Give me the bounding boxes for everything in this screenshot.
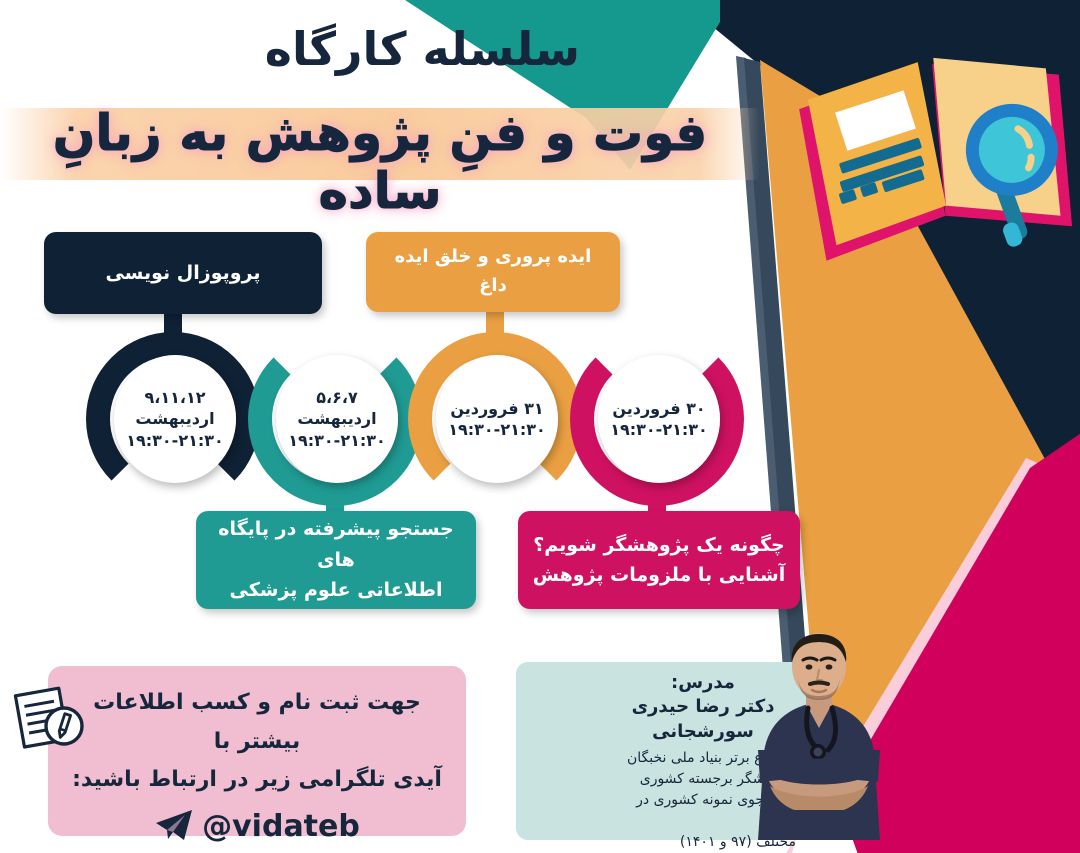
date-circle-proposal-time: ۱۹:۳۰-۲۱:۳۰ [126,430,224,451]
date-circle-howto-date: ۳۰ فروردین [612,398,705,419]
topic-box-idea[interactable]: ایده پروری و خلق ایده داغ [366,232,620,312]
date-circle-search-date: ۵،۶،۷ [316,387,357,408]
telegram-handle-text: @vidateb [202,809,360,844]
contact-box: جهت ثبت نام و کسب اطلاعات بیشتر با آیدی … [48,666,466,836]
telegram-handle[interactable]: @vidateb [68,808,446,846]
topic-box-idea-label: ایده پروری و خلق ایده داغ [380,243,606,301]
date-circle-howto: ۳۰ فروردین ۱۹:۳۰-۲۱:۳۰ [598,355,720,483]
date-circle-search: ۵،۶،۷ اردیبهشت ۱۹:۳۰-۲۱:۳۰ [276,355,398,483]
topic-box-search[interactable]: جستجو پیشرفته در پایگاه های اطلاعاتی علو… [196,511,476,609]
date-circle-search-time: ۱۹:۳۰-۲۱:۳۰ [288,430,386,451]
topic-box-howto[interactable]: چگونه یک پژوهشگر شویم؟ آشنایی با ملزومات… [518,511,800,609]
topic-box-howto-label-line2: آشنایی با ملزومات پژوهش [533,560,786,590]
telegram-icon [154,808,194,846]
date-circle-proposal-date: ۹،۱۱،۱۲ [145,387,206,408]
date-circle-search-month: اردیبهشت [297,408,376,429]
topic-box-search-label-line1: جستجو پیشرفته در پایگاه های [210,514,462,575]
date-circle-proposal-month: اردیبهشت [135,408,214,429]
instructor-portrait [748,624,890,840]
topic-box-proposal-label: پروپوزال نویسی [105,258,260,288]
date-circle-idea: ۳۱ فروردین ۱۹:۳۰-۲۱:۳۰ [436,355,558,483]
open-book-magnifier-icon [785,30,1080,297]
date-circle-idea-date: ۳۱ فروردین [450,398,543,419]
date-circle-howto-time: ۱۹:۳۰-۲۱:۳۰ [610,419,708,440]
document-pencil-icon [12,680,90,758]
date-circle-proposal: ۹،۱۱،۱۲ اردیبهشت ۱۹:۳۰-۲۱:۳۰ [114,355,236,483]
topic-box-search-label-line2: اطلاعاتی علوم پزشکی [210,575,462,605]
poster-title-line2: فوت و فنِ پژوهش به زبانِ ساده [0,104,760,220]
topic-box-howto-label: چگونه یک پژوهشگر شویم؟ آشنایی با ملزومات… [533,530,786,591]
topic-box-search-label: جستجو پیشرفته در پایگاه های اطلاعاتی علو… [210,514,462,605]
date-circle-idea-time: ۱۹:۳۰-۲۱:۳۰ [448,419,546,440]
poster-canvas: سلسله کارگاه فوت و فنِ پژوهش به زبانِ سا… [0,0,1080,853]
topic-box-proposal[interactable]: پروپوزال نویسی [44,232,322,314]
title-line1-text: سلسله کارگاه [0,22,820,76]
contact-line2: آیدی تلگرامی زیر در ارتباط باشید: [68,761,446,800]
contact-line1: جهت ثبت نام و کسب اطلاعات بیشتر با [68,684,446,761]
topic-box-howto-label-line1: چگونه یک پژوهشگر شویم؟ [533,530,786,560]
poster-title-line1: سلسله کارگاه [0,22,820,76]
